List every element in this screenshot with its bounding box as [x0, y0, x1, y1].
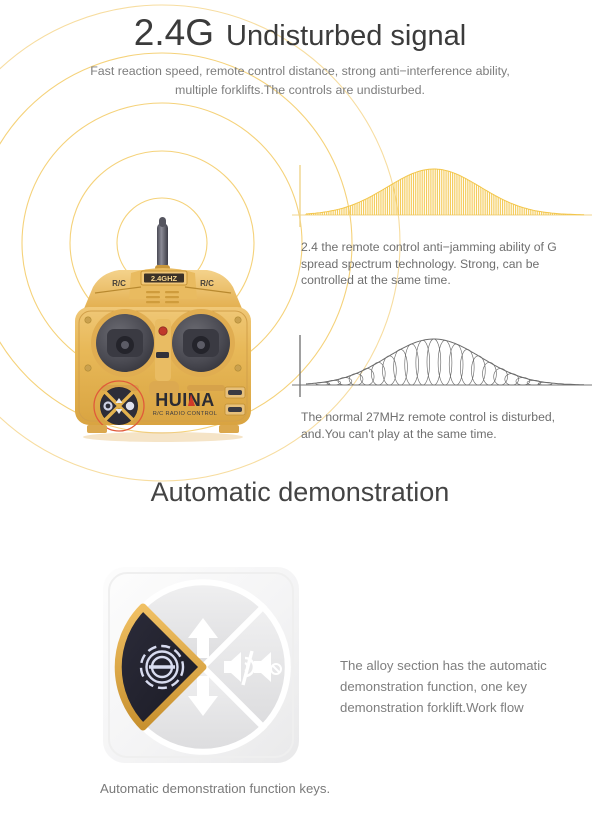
title-text: Undisturbed signal: [226, 20, 466, 52]
alloy-description: The alloy section has the automatic demo…: [340, 655, 576, 718]
foot-left: [87, 425, 107, 433]
frequency-badge: 2.4GHZ: [141, 271, 187, 285]
frequency-badge-label: 2.4GHZ: [151, 274, 178, 283]
gimbal-stick-left: [91, 309, 159, 377]
waveform-block-spread-spectrum: 2.4 the remote control anti−jamming abil…: [292, 155, 592, 289]
function-pad-panel: [99, 563, 307, 771]
remote-transmitter: 2.4GHZ R/C R/C: [57, 215, 269, 453]
antenna-icon: [155, 217, 170, 274]
waveform-caption-2: The normal 27MHz remote control is distu…: [292, 409, 592, 442]
pad-caption: Automatic demonstration function keys.: [100, 780, 350, 797]
foot-right: [219, 425, 239, 433]
waveform-chart-spread-spectrum: [292, 155, 592, 230]
brand-sublabel: R/C RADIO CONTROL: [153, 411, 218, 417]
transmitter-shadow: [83, 432, 243, 442]
power-led-icon: [159, 327, 167, 335]
subtitle-line-1: Fast reaction speed, remote control dist…: [0, 62, 600, 81]
waveform-caption-1: 2.4 the remote control anti−jamming abil…: [292, 239, 592, 289]
shoulder-label-right: R/C: [200, 279, 214, 288]
waveform-block-27mhz: The normal 27MHz remote control is distu…: [292, 325, 592, 442]
gimbal-stick-right: [167, 309, 235, 377]
title-frequency: 2.4G: [134, 12, 214, 53]
brand-plate: HUINA R/C RADIO CONTROL: [151, 387, 223, 417]
transmitter-function-pad[interactable]: [94, 381, 144, 431]
header: 2.4GUndisturbed signal Fast reaction spe…: [0, 0, 600, 100]
page-subtitle: Fast reaction speed, remote control dist…: [0, 62, 600, 100]
shoulder-label-left: R/C: [112, 279, 126, 288]
page-title: 2.4GUndisturbed signal: [0, 12, 600, 54]
brand-label: HUINA: [155, 390, 215, 410]
center-switch: [156, 352, 169, 358]
waveform-chart-27mhz: [292, 325, 592, 400]
subtitle-line-2: multiple forklifts.The controls are undi…: [0, 81, 600, 100]
sound-icon-mini: [126, 402, 134, 410]
section-title-automatic-demonstration: Automatic demonstration: [0, 477, 600, 508]
